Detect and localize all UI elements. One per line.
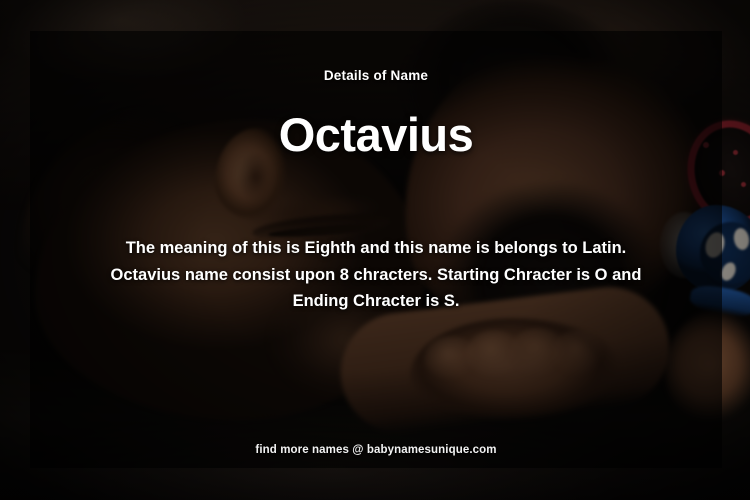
card-kicker-label: Details of Name (324, 68, 428, 83)
ring-dot (733, 150, 738, 155)
name-card-screenshot: Details of Name Octavius The meaning of … (0, 0, 750, 500)
card-content: Details of Name Octavius The meaning of … (30, 31, 722, 468)
ring-dot (741, 182, 746, 187)
page-title: Octavius (279, 110, 474, 159)
name-description: The meaning of this is Eighth and this n… (106, 235, 646, 315)
footer-site-link[interactable]: find more names @ babynamesunique.com (30, 444, 722, 456)
details-overlay-card: Details of Name Octavius The meaning of … (30, 31, 722, 468)
